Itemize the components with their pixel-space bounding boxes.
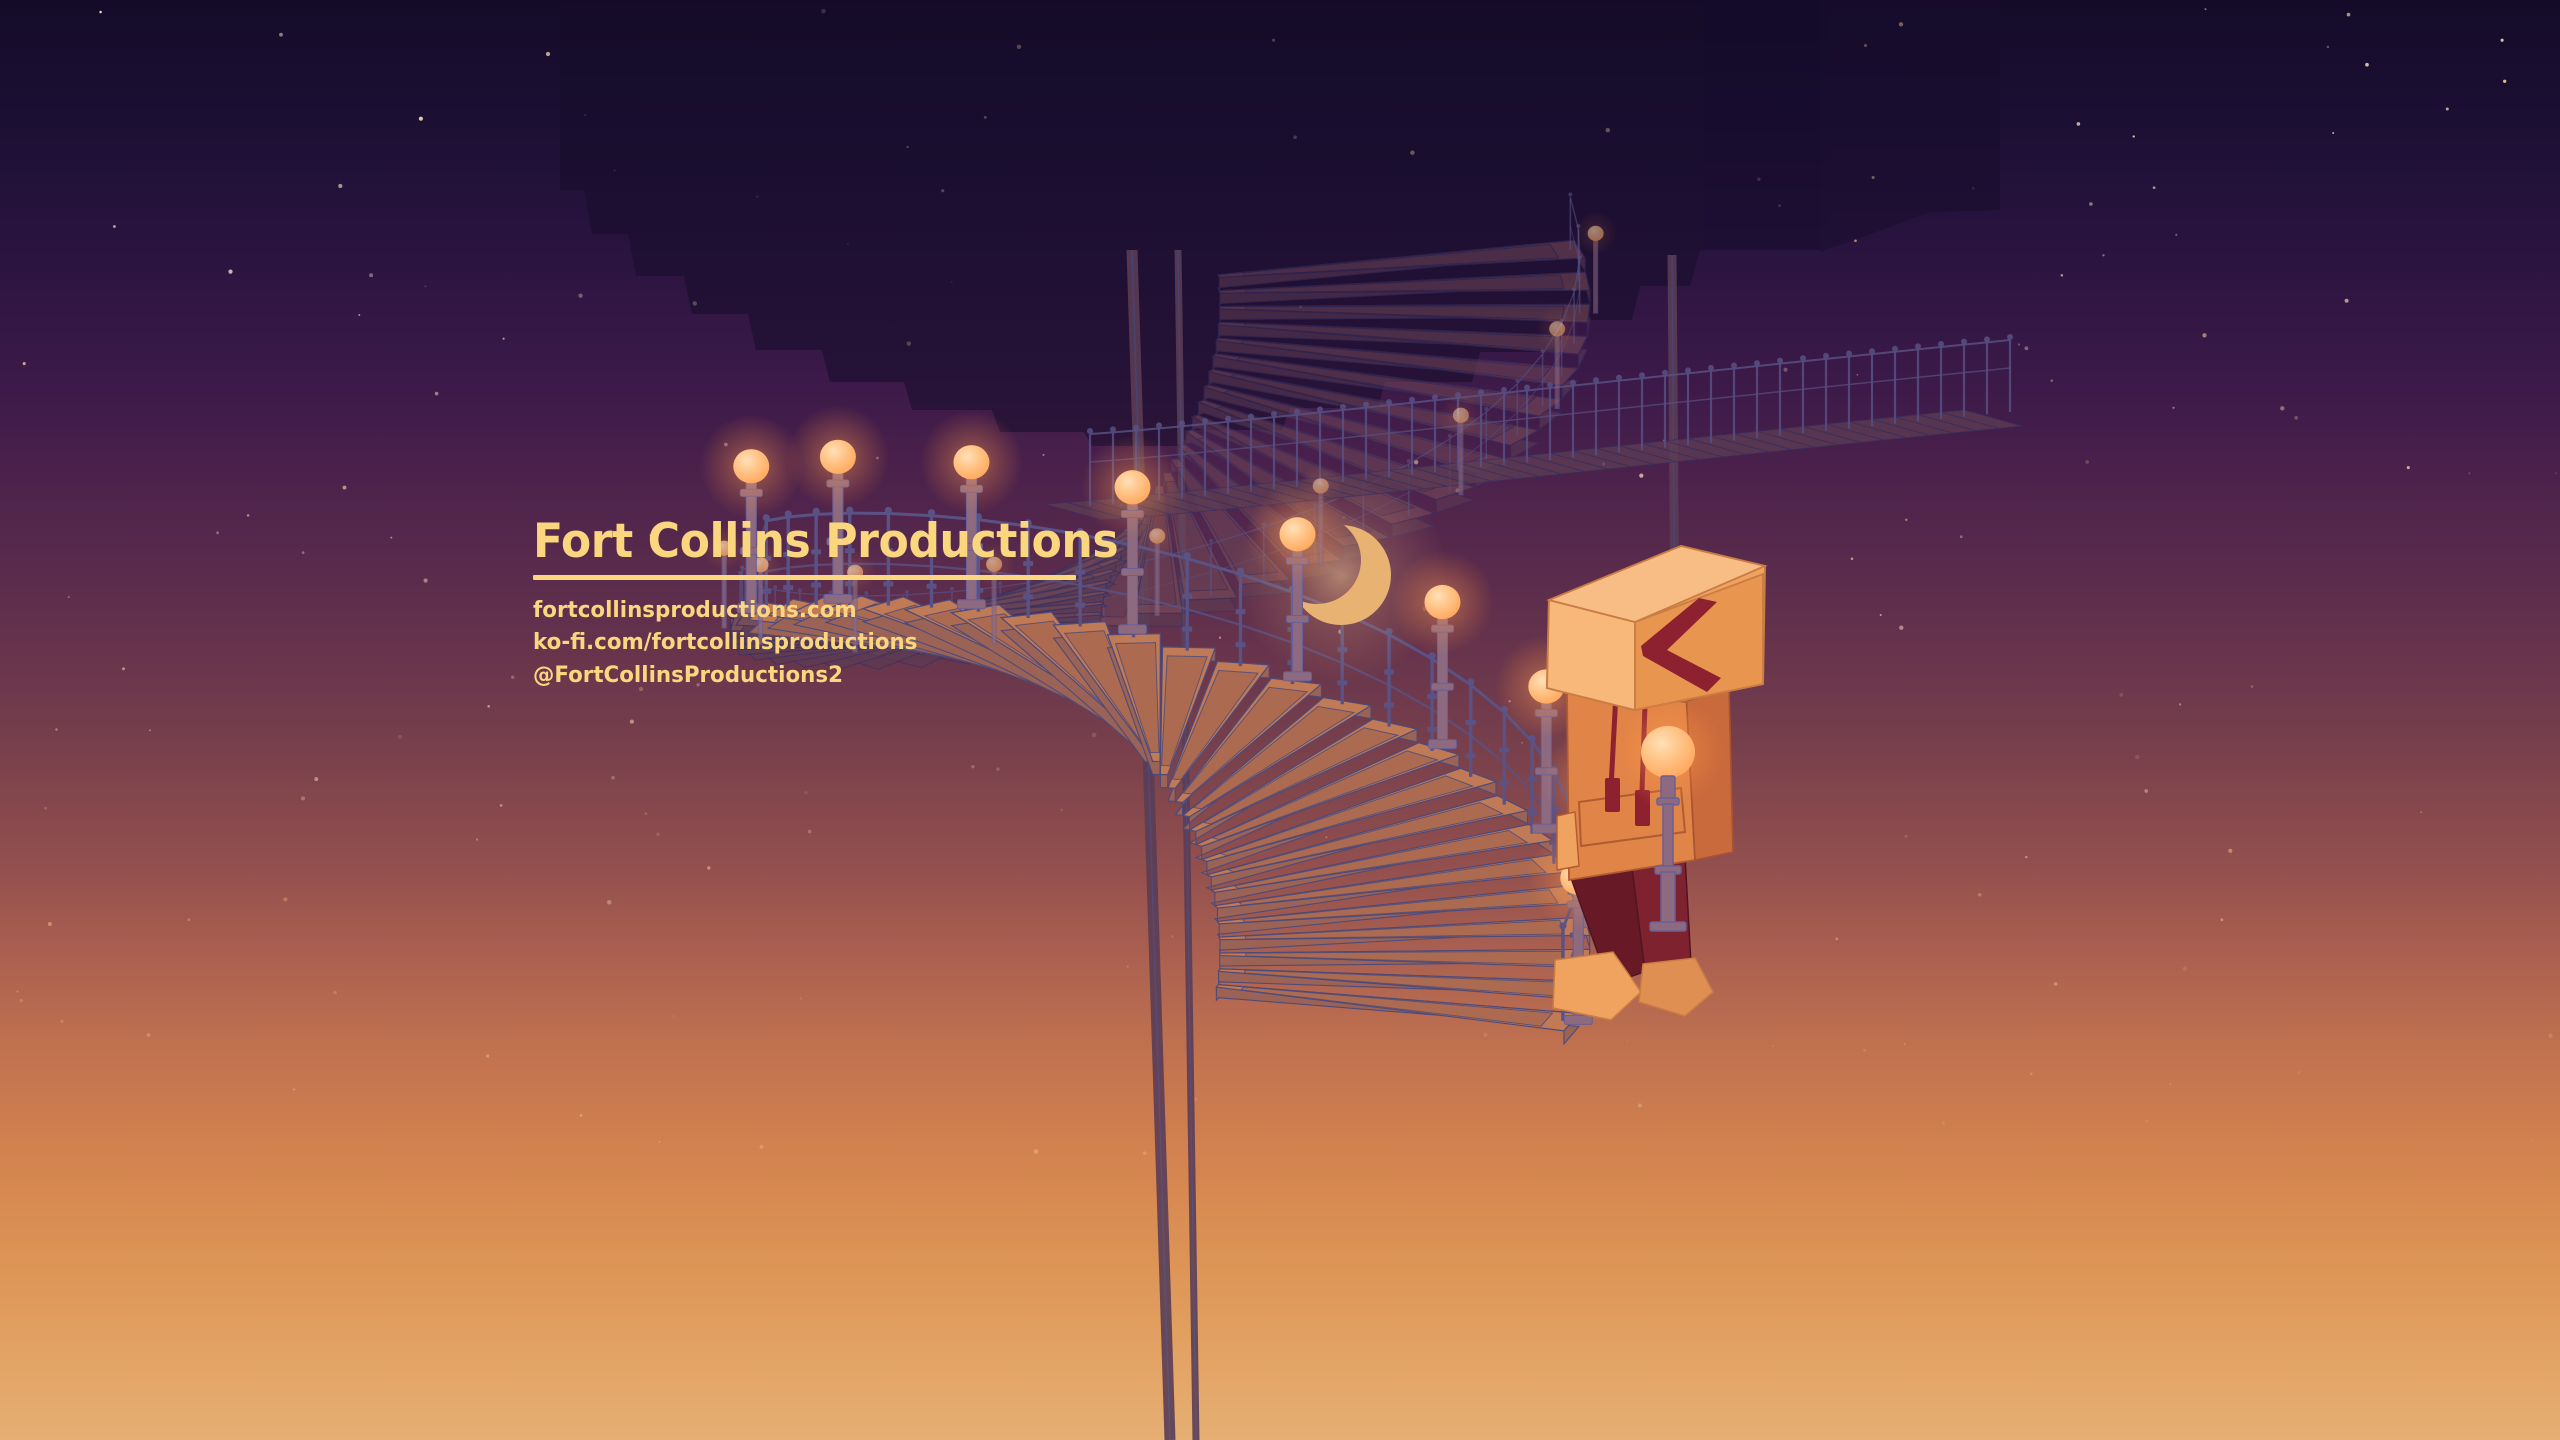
branding-block: Fort Collins Productions fortcollinsprod… bbox=[533, 518, 1156, 691]
title-underline bbox=[533, 575, 1076, 580]
illustration-canvas: Fort Collins Productions fortcollinsprod… bbox=[0, 0, 2560, 1440]
spiral-staircase-artwork bbox=[0, 0, 2560, 1440]
social-handle[interactable]: @FortCollinsProductions2 bbox=[533, 659, 1124, 691]
contact-links: fortcollinsproductions.com ko-fi.com/for… bbox=[533, 594, 1156, 691]
distant-staircase-silhouette bbox=[560, 0, 2000, 446]
kofi-link[interactable]: ko-fi.com/fortcollinsproductions bbox=[533, 626, 1124, 658]
baluster bbox=[1527, 735, 1537, 834]
baluster bbox=[1466, 678, 1476, 777]
website-link[interactable]: fortcollinsproductions.com bbox=[533, 594, 1124, 626]
page-title: Fort Collins Productions bbox=[533, 518, 1118, 566]
